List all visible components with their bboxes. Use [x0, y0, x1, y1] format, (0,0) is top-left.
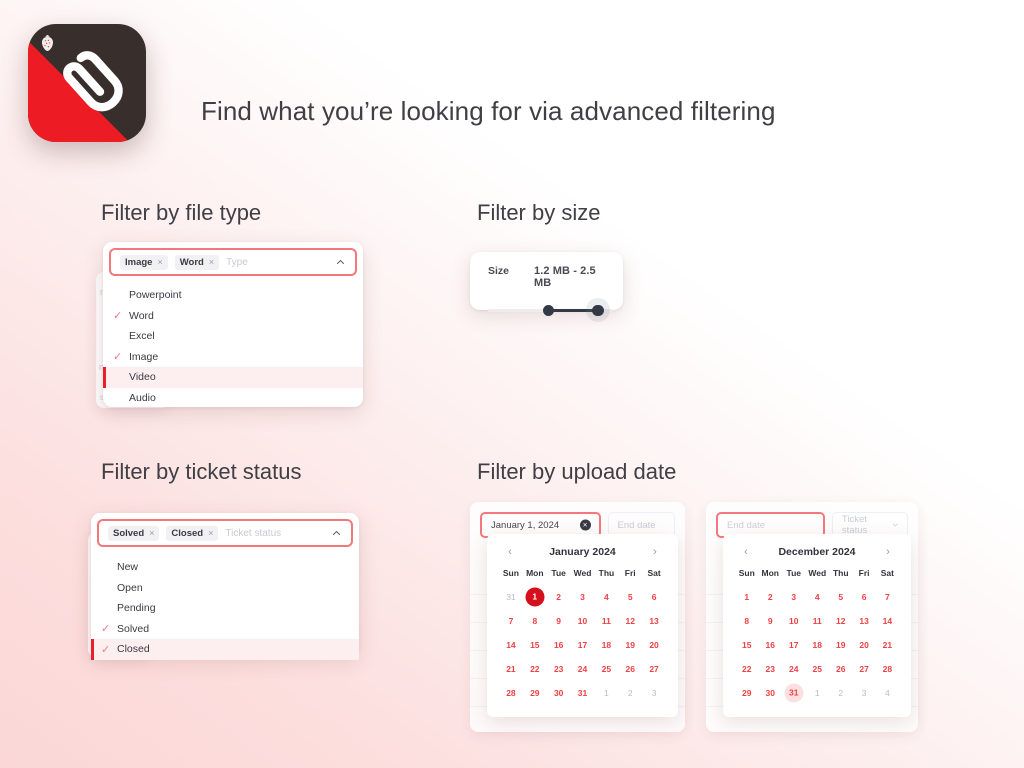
option-new[interactable]: New: [91, 557, 359, 578]
end-date-calendar-popover: ‹ December 2024 › Sun Mon Tue Wed Thu Fr…: [723, 534, 911, 717]
option-word[interactable]: ✓ Word: [103, 306, 363, 327]
calendar-week: 1 2 3 4 5 6 7: [735, 585, 899, 609]
calendar-day[interactable]: 11: [805, 609, 829, 633]
calendar-day[interactable]: 7: [499, 609, 523, 633]
section-heading-file-type: Filter by file type: [101, 200, 261, 226]
calendar-day[interactable]: 12: [618, 609, 642, 633]
calendar-day[interactable]: 14: [499, 633, 523, 657]
range-min-handle[interactable]: [543, 305, 555, 317]
calendar-day[interactable]: 21: [499, 657, 523, 681]
file-type-select-field[interactable]: Image × Word × Type: [109, 248, 357, 276]
calendar-day[interactable]: 20: [853, 633, 876, 657]
calendar-day[interactable]: 20: [642, 633, 666, 657]
size-value: 1.2 MB - 2.5 MB: [534, 265, 605, 289]
calendar-day[interactable]: 21: [876, 633, 899, 657]
weekday-label: Wed: [805, 568, 829, 585]
end-date-placeholder: End date: [727, 520, 765, 531]
calendar-prev-month-button[interactable]: ‹: [739, 546, 753, 558]
calendar-day[interactable]: 29: [523, 681, 547, 705]
option-solved[interactable]: ✓ Solved: [91, 619, 359, 640]
calendar-day[interactable]: 26: [618, 657, 642, 681]
calendar-week: 28 29 30 31 1 2 3: [499, 681, 666, 705]
option-pending[interactable]: Pending: [91, 598, 359, 619]
calendar-day[interactable]: 3: [642, 681, 666, 705]
calendar-next-month-button[interactable]: ›: [881, 546, 895, 558]
check-icon: ✓: [101, 622, 117, 635]
calendar-month-label: January 2024: [549, 546, 616, 558]
option-label: Excel: [129, 330, 155, 342]
weekday-label: Fri: [618, 568, 642, 585]
ticket-status-placeholder: Ticket status: [842, 514, 884, 536]
calendar-week: 7 8 9 10 11 12 13: [499, 609, 666, 633]
size-range-slider[interactable]: [488, 303, 612, 317]
chip-remove-icon[interactable]: ×: [149, 528, 154, 538]
calendar-day[interactable]: 14: [876, 609, 899, 633]
calendar-day[interactable]: 9: [758, 609, 782, 633]
calendar-day[interactable]: 26: [829, 657, 852, 681]
section-heading-size: Filter by size: [477, 200, 600, 226]
weekday-label: Mon: [758, 568, 782, 585]
calendar-day[interactable]: 18: [594, 633, 618, 657]
chip-label: Closed: [171, 528, 203, 539]
calendar-day[interactable]: 24: [571, 657, 595, 681]
calendar-day[interactable]: 6: [642, 585, 666, 609]
chip-word[interactable]: Word ×: [175, 255, 219, 270]
weekday-label: Tue: [547, 568, 571, 585]
calendar-day[interactable]: 31: [499, 585, 523, 609]
section-heading-upload-date: Filter by upload date: [477, 459, 676, 485]
section-heading-ticket-status: Filter by ticket status: [101, 459, 302, 485]
ticket-status-options-list: New Open Pending ✓ Solved ✓ Closed: [91, 553, 359, 660]
calendar-week: 14 15 16 17 18 19 20: [499, 633, 666, 657]
calendar-day[interactable]: 3: [853, 681, 876, 705]
calendar-day[interactable]: 24: [782, 657, 805, 681]
chip-solved[interactable]: Solved ×: [108, 526, 159, 541]
calendar-day[interactable]: 22: [523, 657, 547, 681]
chip-label: Image: [125, 257, 152, 268]
calendar-week: 8 9 10 11 12 13 14: [735, 609, 899, 633]
option-label: Closed: [117, 643, 150, 655]
chip-label: Word: [180, 257, 204, 268]
option-open[interactable]: Open: [91, 578, 359, 599]
calendar-day[interactable]: 16: [547, 633, 571, 657]
calendar-day[interactable]: 17: [782, 633, 805, 657]
calendar-prev-month-button[interactable]: ‹: [503, 546, 517, 558]
calendar-day[interactable]: 28: [876, 657, 899, 681]
calendar-day[interactable]: 12: [829, 609, 852, 633]
chip-remove-icon[interactable]: ×: [157, 257, 162, 267]
option-label: Powerpoint: [129, 289, 182, 301]
calendar-day[interactable]: 3: [571, 585, 595, 609]
calendar-day[interactable]: 13: [853, 609, 876, 633]
calendar-day[interactable]: 1: [594, 681, 618, 705]
clear-date-icon[interactable]: ×: [580, 520, 591, 531]
calendar-day[interactable]: 30: [758, 681, 782, 705]
ticket-status-input-placeholder[interactable]: Ticket status: [225, 528, 281, 539]
weekday-label: Sat: [876, 568, 899, 585]
calendar-month-label: December 2024: [778, 546, 855, 558]
chip-remove-icon[interactable]: ×: [208, 528, 213, 538]
option-label: Open: [117, 582, 143, 594]
file-type-input-placeholder[interactable]: Type: [226, 257, 248, 268]
weekday-label: Sun: [499, 568, 523, 585]
calendar-day[interactable]: 15: [735, 633, 758, 657]
calendar-day[interactable]: 10: [782, 609, 805, 633]
calendar-day[interactable]: 2: [618, 681, 642, 705]
calendar-day[interactable]: 8: [735, 609, 758, 633]
calendar-week: 22 23 24 25 26 27 28: [735, 657, 899, 681]
calendar-day[interactable]: 19: [618, 633, 642, 657]
calendar-day[interactable]: 23: [758, 657, 782, 681]
page-title: Find what you’re looking for via advance…: [201, 96, 776, 127]
option-excel[interactable]: Excel: [103, 326, 363, 347]
chip-label: Solved: [113, 528, 144, 539]
calendar-day[interactable]: 16: [758, 633, 782, 657]
start-date-calendar-popover: ‹ January 2024 › Sun Mon Tue Wed Thu Fri…: [487, 534, 678, 717]
option-label: Video: [129, 371, 156, 383]
option-video[interactable]: Video: [103, 367, 363, 388]
calendar-day[interactable]: 28: [499, 681, 523, 705]
check-icon: ✓: [101, 643, 117, 656]
app-logo: [28, 24, 146, 142]
calendar-day[interactable]: 23: [547, 657, 571, 681]
calendar-week: 15 16 17 18 19 20 21: [735, 633, 899, 657]
calendar-day[interactable]: 1: [805, 681, 829, 705]
option-closed[interactable]: ✓ Closed: [91, 639, 359, 660]
option-image[interactable]: ✓ Image: [103, 347, 363, 368]
calendar-day[interactable]: 9: [547, 609, 571, 633]
option-audio[interactable]: Audio: [103, 388, 363, 409]
calendar-day[interactable]: 13: [642, 609, 666, 633]
calendar-day[interactable]: 11: [594, 609, 618, 633]
calendar-day[interactable]: 22: [735, 657, 758, 681]
ticket-status-filter-card: Solved × Closed × Ticket status New Open…: [91, 513, 359, 656]
chip-image[interactable]: Image ×: [120, 255, 168, 270]
calendar-week: 31 1 2 3 4 5 6: [499, 585, 666, 609]
check-icon: ✓: [113, 309, 129, 322]
chevron-up-icon[interactable]: [336, 258, 345, 267]
calendar-grid: Sun Mon Tue Wed Thu Fri Sat 1 2 3 4 5 6 …: [735, 568, 899, 705]
weekday-label: Thu: [829, 568, 852, 585]
file-type-filter-card: Image × Word × Type Powerpoint ✓ Word Ex…: [103, 242, 363, 407]
chip-closed[interactable]: Closed ×: [166, 526, 218, 541]
weekday-label: Thu: [594, 568, 618, 585]
calendar-day[interactable]: 2: [829, 681, 852, 705]
calendar-day[interactable]: 17: [571, 633, 595, 657]
option-label: Solved: [117, 623, 149, 635]
calendar-day[interactable]: 25: [594, 657, 618, 681]
calendar-day[interactable]: 4: [594, 585, 618, 609]
calendar-day[interactable]: 1: [735, 585, 758, 609]
weekday-label: Tue: [782, 568, 805, 585]
option-label: Word: [129, 310, 154, 322]
calendar-day-highlighted[interactable]: 31: [782, 681, 805, 705]
calendar-day[interactable]: 5: [829, 585, 852, 609]
calendar-day-selected[interactable]: 1: [523, 585, 547, 609]
calendar-day[interactable]: 30: [547, 681, 571, 705]
range-max-handle[interactable]: [592, 305, 604, 317]
calendar-day[interactable]: 10: [571, 609, 595, 633]
calendar-day[interactable]: 18: [805, 633, 829, 657]
calendar-day[interactable]: 27: [853, 657, 876, 681]
calendar-next-month-button[interactable]: ›: [648, 546, 662, 558]
option-label: Image: [129, 351, 158, 363]
calendar-day[interactable]: 2: [547, 585, 571, 609]
weekday-label: Sun: [735, 568, 758, 585]
calendar-day[interactable]: 4: [876, 681, 899, 705]
calendar-day[interactable]: 5: [618, 585, 642, 609]
calendar-day[interactable]: 4: [805, 585, 829, 609]
calendar-day[interactable]: 3: [782, 585, 805, 609]
option-label: Pending: [117, 602, 156, 614]
calendar-day[interactable]: 19: [829, 633, 852, 657]
calendar-grid: Sun Mon Tue Wed Thu Fri Sat 31 1 2 3 4 5…: [499, 568, 666, 705]
chevron-up-icon[interactable]: [332, 529, 341, 538]
calendar-day[interactable]: 8: [523, 609, 547, 633]
option-powerpoint[interactable]: Powerpoint: [103, 285, 363, 306]
weekday-label: Sat: [642, 568, 666, 585]
option-label: New: [117, 561, 138, 573]
file-type-options-list: Powerpoint ✓ Word Excel ✓ Image Video Au…: [103, 282, 363, 408]
size-label: Size: [488, 265, 509, 277]
chevron-down-icon[interactable]: [892, 521, 898, 529]
calendar-day[interactable]: 7: [876, 585, 899, 609]
calendar-day[interactable]: 27: [642, 657, 666, 681]
start-date-value: January 1, 2024: [491, 520, 559, 531]
calendar-day[interactable]: 31: [571, 681, 595, 705]
calendar-day[interactable]: 2: [758, 585, 782, 609]
ticket-status-select-field[interactable]: Solved × Closed × Ticket status: [97, 519, 353, 547]
size-filter-card: Size 1.2 MB - 2.5 MB: [470, 252, 623, 310]
check-icon: ✓: [113, 350, 129, 363]
weekday-label: Wed: [571, 568, 595, 585]
calendar-week: 21 22 23 24 25 26 27: [499, 657, 666, 681]
weekday-label: Mon: [523, 568, 547, 585]
calendar-day[interactable]: 29: [735, 681, 758, 705]
calendar-day[interactable]: 6: [853, 585, 876, 609]
weekday-label: Fri: [853, 568, 876, 585]
chip-remove-icon[interactable]: ×: [209, 257, 214, 267]
calendar-day[interactable]: 15: [523, 633, 547, 657]
paperclip-icon: [49, 45, 125, 121]
calendar-week: 29 30 31 1 2 3 4: [735, 681, 899, 705]
end-date-placeholder: End date: [618, 520, 656, 531]
option-label: Audio: [129, 392, 156, 404]
calendar-day[interactable]: 25: [805, 657, 829, 681]
